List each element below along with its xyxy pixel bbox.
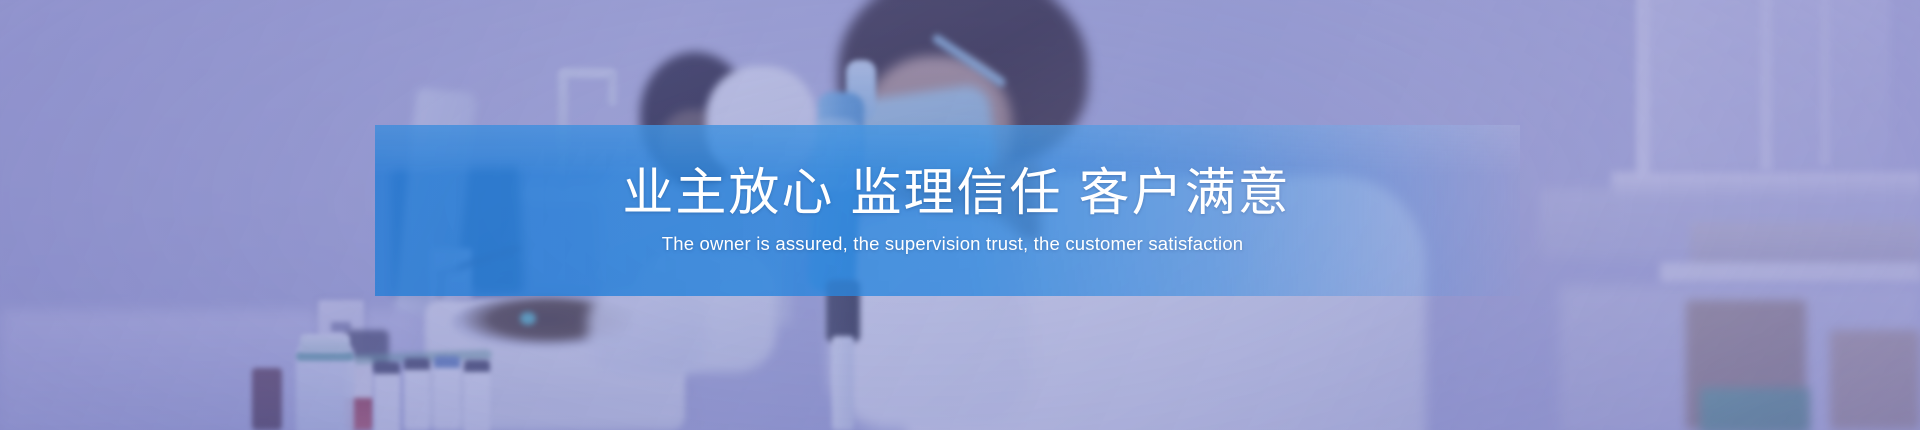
hero-banner: 业主放心 监理信任 客户满意 The owner is assured, the… bbox=[0, 0, 1920, 430]
slogan-headline: 业主放心 监理信任 客户满意 bbox=[604, 166, 1290, 220]
slogan-block: 业主放心 监理信任 客户满意 The owner is assured, the… bbox=[375, 125, 1520, 296]
slogan-subheadline: The owner is assured, the supervision tr… bbox=[652, 233, 1244, 255]
